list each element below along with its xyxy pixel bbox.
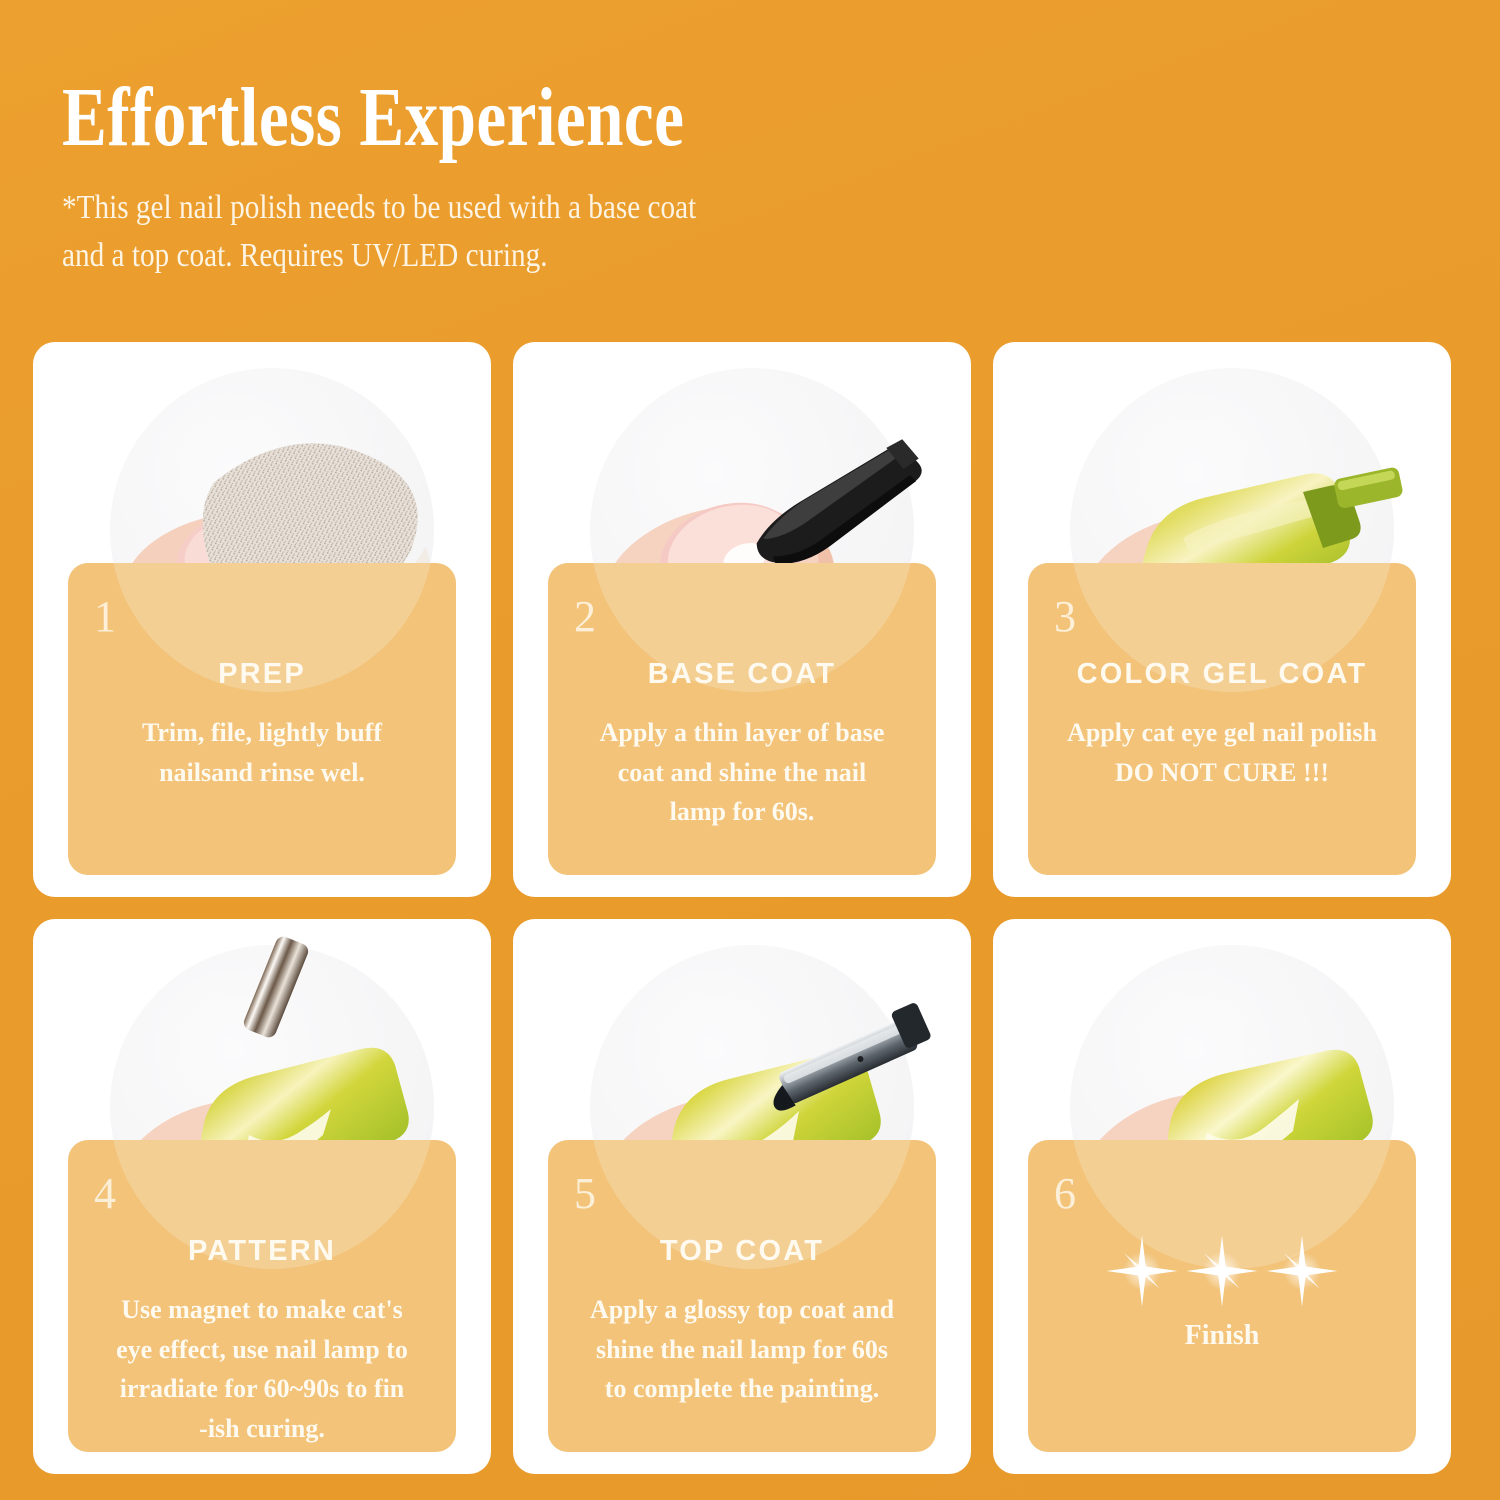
step-card-color-gel-coat[interactable]: 3 COLOR GEL COAT Apply cat eye gel nail …	[993, 342, 1451, 897]
step-info-panel: 5 TOP COAT Apply a glossy top coat and s…	[548, 1140, 936, 1452]
sparkle-icon	[1185, 1234, 1259, 1308]
step-card-base-coat[interactable]: 2 BASE COAT Apply a thin layer of base c…	[513, 342, 971, 897]
step-card-pattern[interactable]: 4 PATTERN Use magnet to make cat's eye e…	[33, 919, 491, 1474]
sparkle-icon	[1105, 1234, 1179, 1308]
step-title: COLOR GEL COAT	[1044, 658, 1400, 691]
step-description: Trim, file, lightly buff nailsand rinse …	[84, 713, 440, 792]
step-card-finish[interactable]: 6	[993, 919, 1451, 1474]
step-card-prep[interactable]: 1 PREP Trim, file, lightly buff nailsand…	[33, 342, 491, 897]
step-description: Apply a thin layer of base coat and shin…	[564, 713, 920, 832]
step-description: Apply a glossy top coat and shine the na…	[564, 1290, 920, 1409]
step-info-panel: 4 PATTERN Use magnet to make cat's eye e…	[68, 1140, 456, 1452]
step-title: PATTERN	[84, 1235, 440, 1268]
step-description: Apply cat eye gel nail polish DO NOT CUR…	[1044, 713, 1400, 792]
step-info-panel: 3 COLOR GEL COAT Apply cat eye gel nail …	[1028, 563, 1416, 875]
step-number: 3	[1054, 595, 1076, 639]
finish-label: Finish	[1044, 1320, 1400, 1352]
step-number: 4	[94, 1172, 116, 1216]
step-info-panel: 6	[1028, 1140, 1416, 1452]
step-card-top-coat[interactable]: 5 TOP COAT Apply a glossy top coat and s…	[513, 919, 971, 1474]
sparkle-icon	[1265, 1234, 1339, 1308]
sparkle-group	[1044, 1232, 1400, 1310]
step-number: 1	[94, 595, 116, 639]
step-description: Use magnet to make cat's eye effect, use…	[84, 1290, 440, 1448]
step-number: 5	[574, 1172, 596, 1216]
step-title: BASE COAT	[564, 658, 920, 691]
steps-grid: 1 PREP Trim, file, lightly buff nailsand…	[33, 342, 1467, 1474]
step-number: 6	[1054, 1172, 1076, 1216]
page-subtitle: *This gel nail polish needs to be used w…	[62, 184, 1299, 281]
step-number: 2	[574, 595, 596, 639]
page-title: Effortless Experience	[62, 78, 1212, 158]
page-header: Effortless Experience *This gel nail pol…	[0, 0, 1500, 280]
step-info-panel: 2 BASE COAT Apply a thin layer of base c…	[548, 563, 936, 875]
step-title: PREP	[84, 658, 440, 691]
step-title: TOP COAT	[564, 1235, 920, 1268]
step-info-panel: 1 PREP Trim, file, lightly buff nailsand…	[68, 563, 456, 875]
